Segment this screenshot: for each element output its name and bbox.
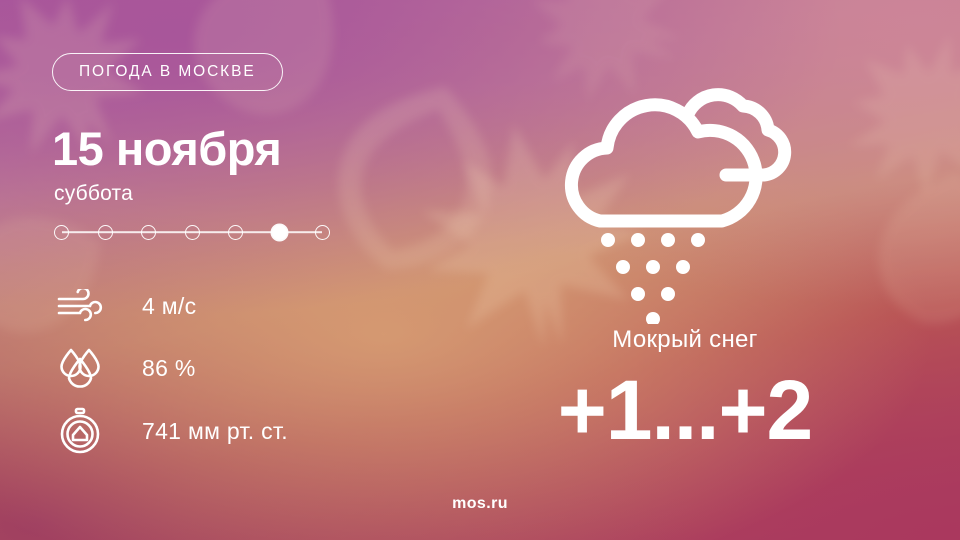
humidity-icon: [52, 340, 108, 396]
week-dot[interactable]: [141, 225, 156, 240]
info-panel: ПОГОДА В МОСКВЕ 15 ноября суббота 4 м/с: [52, 0, 472, 540]
week-day-dots: [54, 222, 330, 242]
week-dot[interactable]: [54, 225, 69, 240]
week-dot-active[interactable]: [272, 225, 287, 240]
metric-wind: 4 м/с: [52, 278, 196, 334]
wind-icon: [52, 278, 108, 334]
pressure-value: 741 мм рт. ст.: [142, 418, 288, 445]
forecast-panel: Мокрый снег +1...+2: [470, 0, 900, 540]
condition-label: Мокрый снег: [470, 326, 900, 354]
week-dot[interactable]: [98, 225, 113, 240]
temperature-value: +1...+2: [470, 368, 900, 452]
cloud-sleet-icon: [525, 62, 825, 324]
site-footer[interactable]: mos.ru: [0, 495, 960, 513]
weather-card: ПОГОДА В МОСКВЕ 15 ноября суббота 4 м/с: [0, 0, 960, 540]
pressure-icon: [52, 403, 108, 459]
humidity-value: 86 %: [142, 355, 196, 382]
wind-value: 4 м/с: [142, 293, 196, 320]
city-badge: ПОГОДА В МОСКВЕ: [52, 53, 283, 91]
week-dot[interactable]: [315, 225, 330, 240]
week-dot[interactable]: [185, 225, 200, 240]
weekday-label: суббота: [54, 182, 133, 206]
city-badge-label: ПОГОДА В МОСКВЕ: [79, 63, 256, 81]
week-dot[interactable]: [228, 225, 243, 240]
metric-pressure: 741 мм рт. ст.: [52, 403, 288, 459]
date-heading: 15 ноября: [52, 125, 281, 172]
metric-humidity: 86 %: [52, 340, 196, 396]
